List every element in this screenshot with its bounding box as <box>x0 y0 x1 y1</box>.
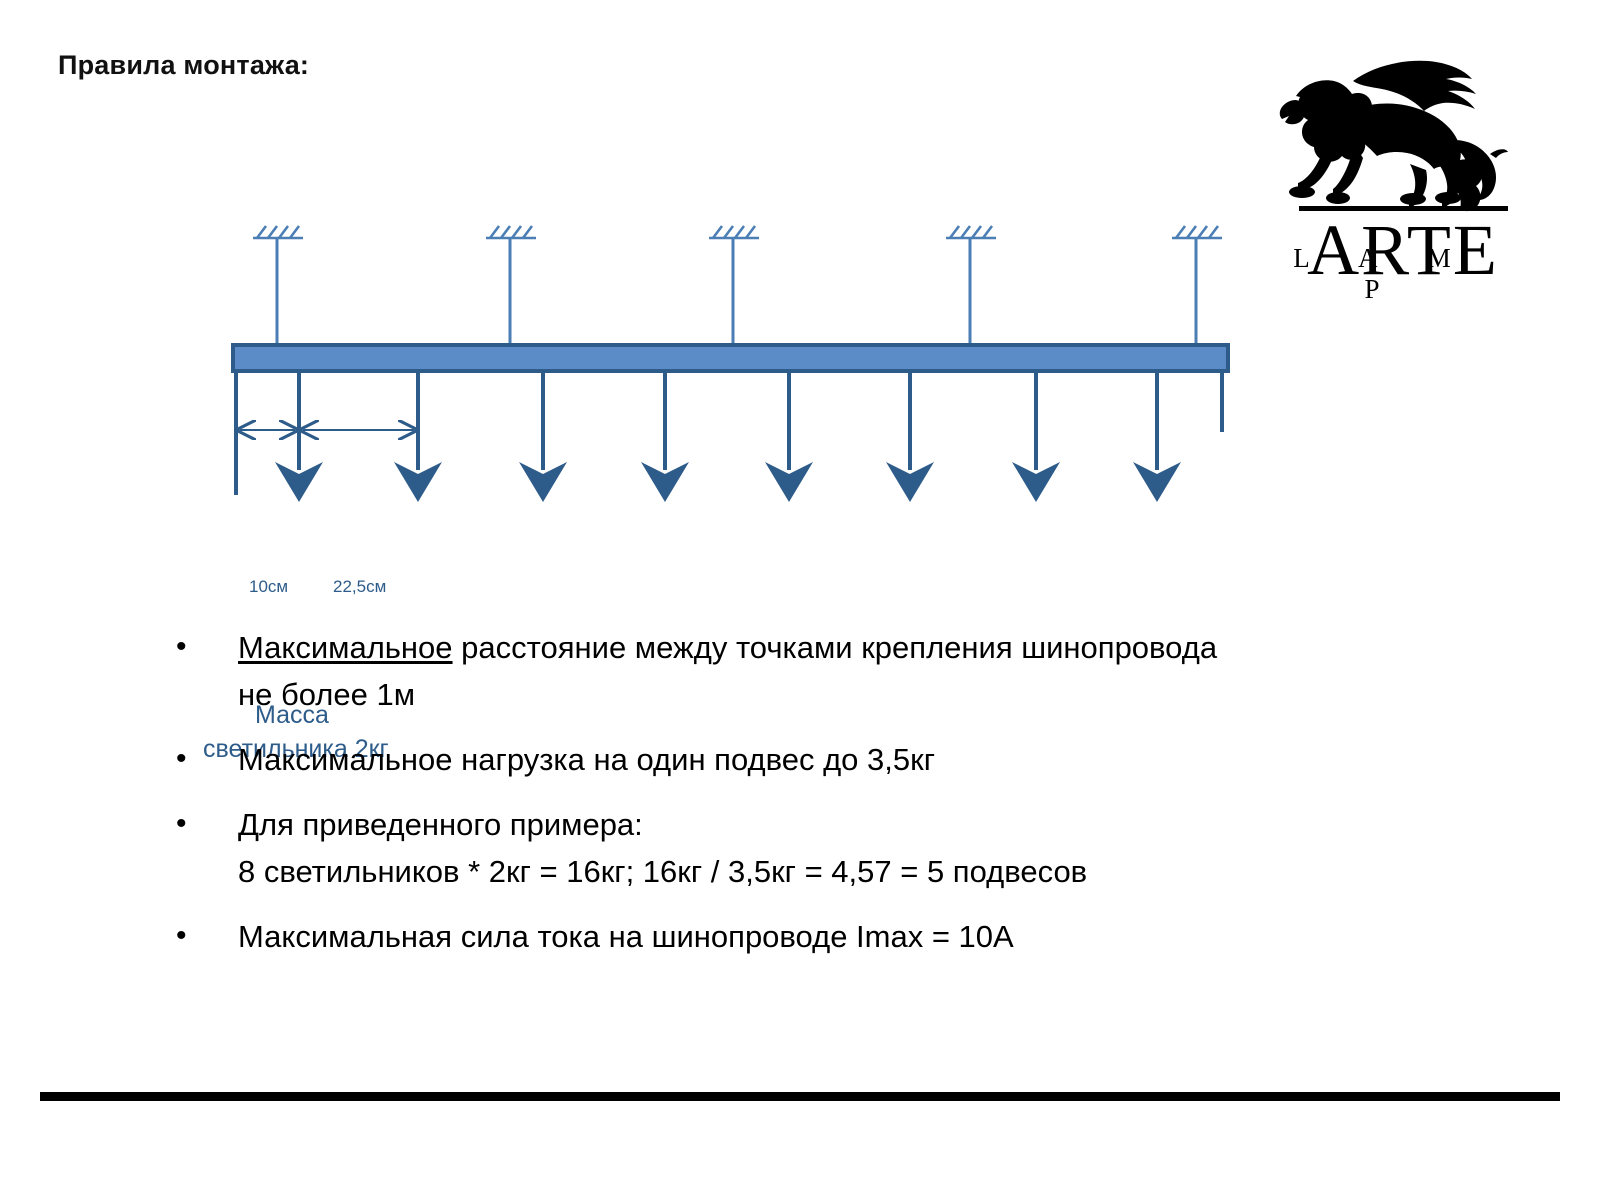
dimension-10cm-label: 10см <box>249 577 288 597</box>
winged-lion-icon <box>1280 61 1508 211</box>
load-arrow-group <box>299 371 1157 470</box>
list-item-calculation: 8 светильников * 2кг = 16кг; 16кг / 3,5к… <box>238 848 1438 895</box>
footer-divider <box>40 1092 1560 1101</box>
list-item-line: Максимальная сила тока на шинопроводе Im… <box>238 913 1438 960</box>
logo-subtext: L A M P <box>1272 243 1494 305</box>
list-item-line: Для приведенного примера: <box>238 801 1438 848</box>
ceiling-mount-4 <box>946 226 996 346</box>
track-busbar-mounting-diagram: 10см 22,5см Масса светильника 2кг <box>0 190 1300 590</box>
bullet-marker: • <box>168 736 238 782</box>
ceiling-mount-3 <box>709 226 759 346</box>
emphasis-text: Максимальное <box>238 630 453 665</box>
bullet-marker: • <box>168 624 238 670</box>
list-item: • Максимальное нагрузка на один подвес д… <box>168 736 1438 783</box>
busbar <box>233 345 1228 371</box>
list-item-line: Максимальное нагрузка на один подвес до … <box>238 736 1438 783</box>
list-item-body: Максимальное расстояние между точками кр… <box>238 624 1438 718</box>
page-title: Правила монтажа: <box>58 50 309 81</box>
ceiling-mount-1 <box>253 226 303 346</box>
list-item-line: не более 1м <box>238 671 1438 718</box>
ceiling-mount-group <box>253 226 1222 346</box>
list-item-line: Максимальное расстояние между точками кр… <box>238 624 1438 671</box>
list-item: • Максимальная сила тока на шинопроводе … <box>168 913 1438 960</box>
list-item-body: Для приведенного примера: 8 светильников… <box>238 801 1438 895</box>
bullet-marker: • <box>168 913 238 959</box>
installation-rules-list: • Максимальное расстояние между точками … <box>168 624 1438 978</box>
list-item-text: расстояние между точками крепления шиноп… <box>453 630 1218 665</box>
list-item-body: Максимальное нагрузка на один подвес до … <box>238 736 1438 783</box>
ceiling-mount-5 <box>1172 226 1222 346</box>
ceiling-mount-2 <box>486 226 536 346</box>
dimension-22-5cm-label: 22,5см <box>333 577 386 597</box>
list-item-body: Максимальная сила тока на шинопроводе Im… <box>238 913 1438 960</box>
bullet-marker: • <box>168 801 238 847</box>
list-item: • Для приведенного примера: 8 светильник… <box>168 801 1438 895</box>
list-item: • Максимальное расстояние между точками … <box>168 624 1438 718</box>
